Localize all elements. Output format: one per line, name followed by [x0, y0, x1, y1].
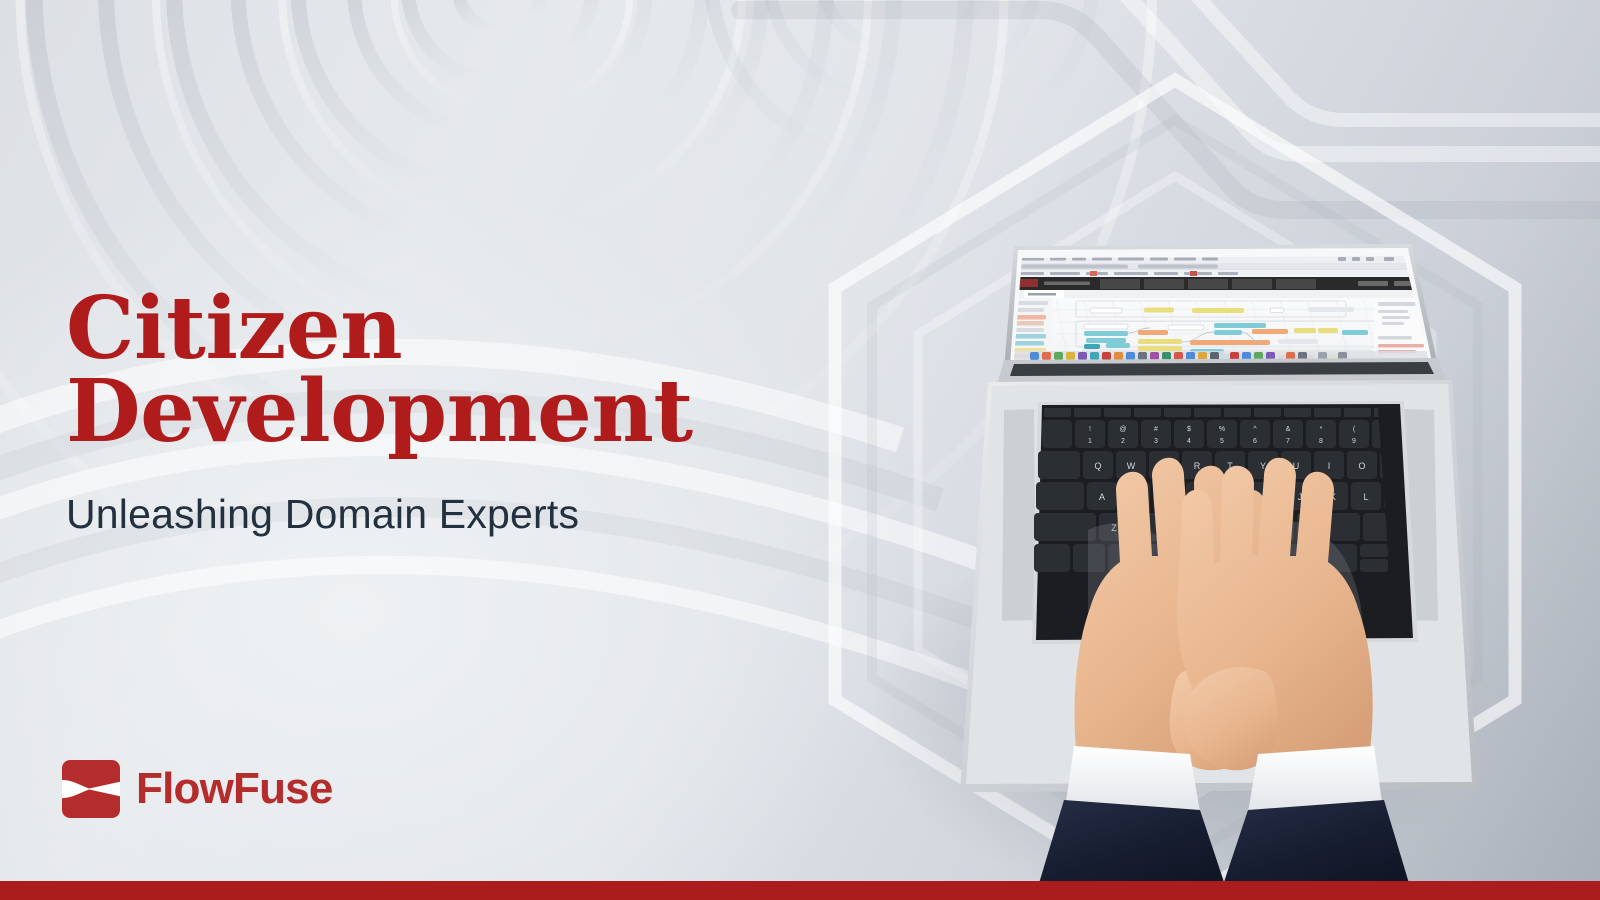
text-block: Citizen Development Unleashing Domain Ex…: [66, 288, 826, 538]
bottom-accent-bar: [0, 881, 1600, 900]
svg-text:I: I: [1328, 461, 1331, 471]
svg-text:6: 6: [1253, 438, 1257, 445]
laptop-photo: !1 @2 #3 $4 %5 ^6 &7 *8 (9 )0: [838, 60, 1478, 900]
svg-text:%: %: [1219, 426, 1225, 433]
svg-text:W: W: [1127, 461, 1136, 471]
svg-text:&: &: [1286, 426, 1291, 433]
svg-text:9: 9: [1352, 438, 1356, 445]
brand-wordmark: FlowFuse: [136, 764, 333, 814]
svg-text:Q: Q: [1094, 461, 1101, 471]
svg-text:R: R: [1194, 461, 1201, 471]
svg-text:$: $: [1187, 426, 1191, 433]
svg-text:!: !: [1089, 426, 1091, 433]
svg-text:4: 4: [1187, 438, 1191, 445]
svg-text:@: @: [1119, 426, 1126, 433]
svg-text:8: 8: [1319, 438, 1323, 445]
page-subtitle: Unleashing Domain Experts: [66, 491, 826, 538]
svg-text:1: 1: [1088, 438, 1092, 445]
svg-text:5: 5: [1220, 438, 1224, 445]
svg-text:O: O: [1358, 461, 1365, 471]
svg-text:7: 7: [1286, 438, 1290, 445]
svg-text:*: *: [1320, 426, 1323, 433]
svg-text:2: 2: [1121, 438, 1125, 445]
svg-text:3: 3: [1154, 438, 1158, 445]
page-title: Citizen Development: [66, 288, 826, 453]
svg-text:#: #: [1154, 426, 1158, 433]
svg-text:L: L: [1363, 492, 1368, 502]
flowfuse-mark-icon: [62, 760, 120, 818]
brand-logo[interactable]: FlowFuse: [62, 760, 333, 818]
svg-text:A: A: [1099, 492, 1105, 502]
banner-root: !1 @2 #3 $4 %5 ^6 &7 *8 (9 )0: [0, 0, 1600, 900]
